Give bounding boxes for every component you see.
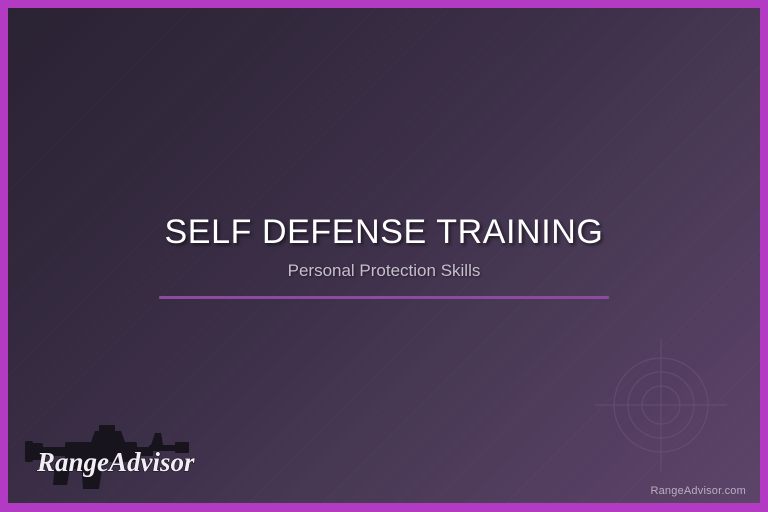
crosshair-target-icon xyxy=(593,337,729,473)
slide-canvas: SELF DEFENSE TRAINING Personal Protectio… xyxy=(8,8,760,503)
page-title: SELF DEFENSE TRAINING xyxy=(8,210,760,254)
presentation-slide: SELF DEFENSE TRAINING Personal Protectio… xyxy=(0,0,768,512)
site-watermark: RangeAdvisor.com xyxy=(650,485,746,497)
title-block: SELF DEFENSE TRAINING Personal Protectio… xyxy=(8,210,760,299)
brand-logo: RangeAdvisor xyxy=(25,425,197,495)
brand-wordmark: RangeAdvisor xyxy=(36,447,195,477)
title-divider xyxy=(159,296,609,299)
page-subtitle: Personal Protection Skills xyxy=(8,260,760,282)
